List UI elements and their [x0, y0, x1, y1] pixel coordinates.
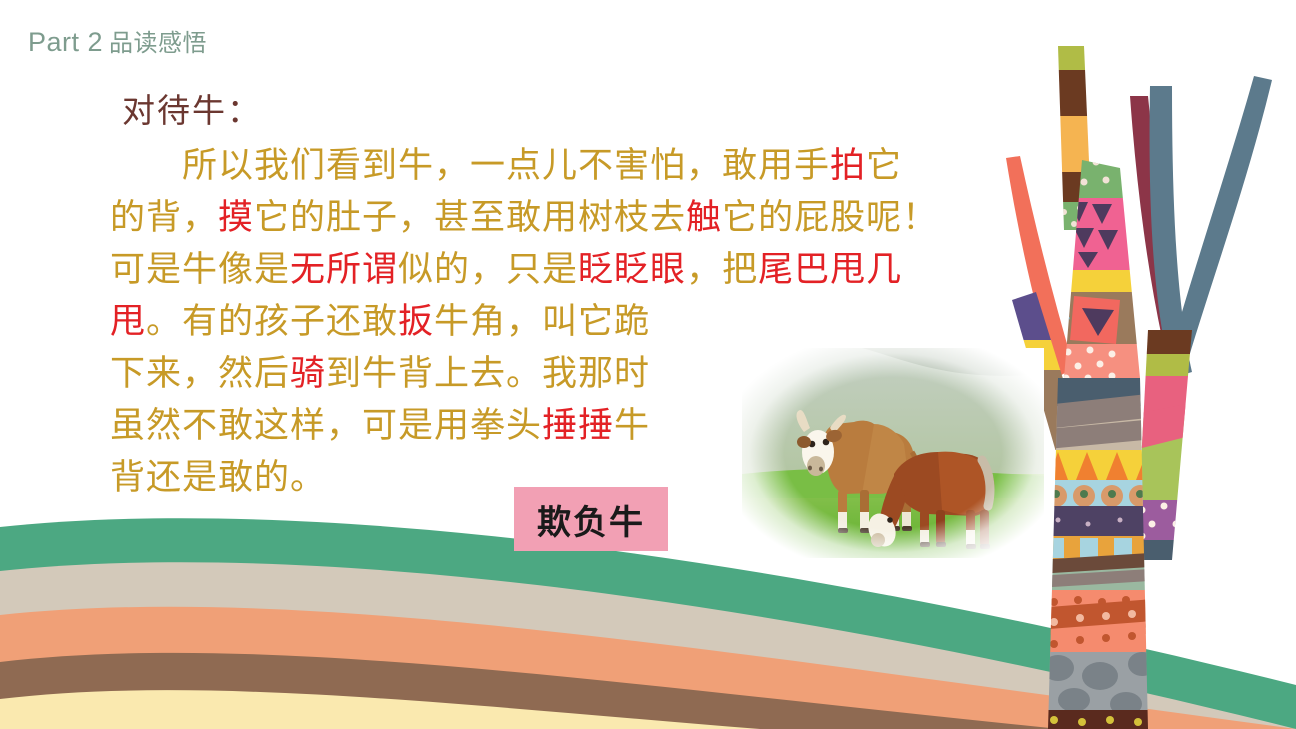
body-text-run: 牛角，叫它跪: [434, 302, 650, 342]
body-line-5: 下来，然后骑到牛背上去。我那时: [110, 348, 990, 400]
part-header: Part 2品读感悟: [28, 26, 207, 58]
tree-rightbranch-pattern: [1126, 330, 1206, 570]
highlighted-verb: 骑: [290, 354, 326, 394]
part-header-cn: 品读感悟: [109, 29, 207, 57]
body-text-run: 它的肚子，甚至敢用树枝去: [254, 198, 686, 238]
tree-trunk-pattern: [1036, 372, 1166, 729]
body-text-run: 。有的孩子还敢: [146, 302, 398, 342]
section-title: 对待牛：: [122, 84, 262, 132]
body-line-6: 虽然不敢这样，可是用拳头捶捶牛: [110, 400, 990, 452]
highlighted-verb: 触: [686, 198, 722, 238]
highlighted-verb: 甩: [110, 302, 146, 342]
body-text-run: 背还是敢的。: [110, 458, 326, 498]
highlighted-verb: 扳: [398, 302, 434, 342]
body-text-run: 到牛背上去。我那时: [326, 354, 650, 394]
tree-midbranch-pattern: [1048, 150, 1161, 384]
body-text-run: 下来，然后: [110, 354, 290, 394]
body-line-2: 的背，摸它的肚子，甚至敢用树枝去触它的屁股呢！: [110, 192, 990, 244]
body-text-run: 所以我们看到牛，一点儿不害怕，敢用手: [182, 146, 830, 186]
body-text-run: 的背，: [110, 198, 218, 238]
body-text-run: 它: [866, 146, 902, 186]
highlighted-verb: 眨眨眼: [578, 250, 686, 290]
tree-twig-top: [1051, 20, 1111, 242]
body-text-run: ，把: [686, 250, 758, 290]
tree-branches: [1006, 76, 1272, 378]
body-text-run: 它的屁股呢！: [722, 198, 938, 238]
highlighted-verb: 捶捶: [542, 406, 614, 446]
body-line-4: 甩。有的孩子还敢扳牛角，叫它跪: [110, 296, 990, 348]
part-header-en: Part 2: [28, 27, 103, 57]
body-text-run: 似的，只是: [398, 250, 578, 290]
body-text-run: 可是牛像是: [110, 250, 290, 290]
keyword-badge: 欺负牛: [514, 487, 668, 551]
body-paragraph: 所以我们看到牛，一点儿不害怕，敢用手拍它的背，摸它的肚子，甚至敢用树枝去触它的屁…: [110, 140, 990, 504]
highlighted-verb: 拍: [830, 146, 866, 186]
body-text-run: 牛: [614, 406, 650, 446]
highlighted-verb: 无所谓: [290, 250, 398, 290]
highlighted-verb: 摸: [218, 198, 254, 238]
slide-root: Part 2品读感悟 对待牛： 所以我们看到牛，一点儿不害怕，敢用手拍它的背，摸…: [0, 0, 1296, 729]
body-text-run: 虽然不敢这样，可是用拳头: [110, 406, 542, 446]
keyword-badge-label: 欺负牛: [537, 495, 645, 544]
body-line-3: 可是牛像是无所谓似的，只是眨眨眼，把尾巴甩几: [110, 244, 990, 296]
highlighted-verb: 尾巴甩几: [758, 250, 902, 290]
body-line-1: 所以我们看到牛，一点儿不害怕，敢用手拍它: [110, 140, 990, 192]
